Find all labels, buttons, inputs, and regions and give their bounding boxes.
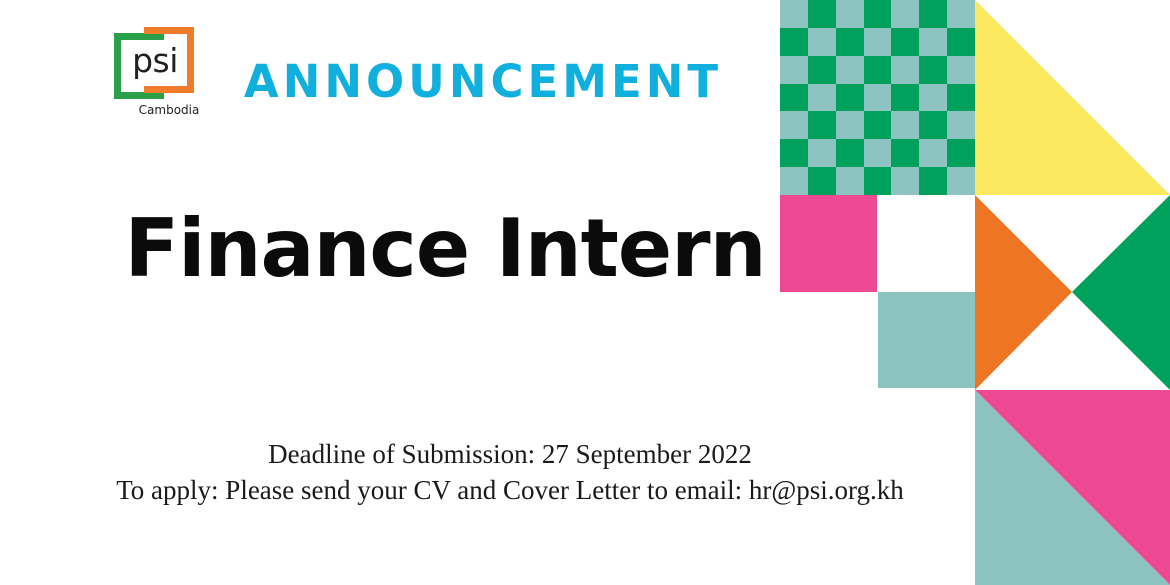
yellow-triangle-shape	[975, 0, 1170, 195]
apply-line: To apply: Please send your CV and Cover …	[0, 472, 1020, 508]
orange-triangle-shape	[975, 195, 1072, 390]
logo-wordmark: psi	[129, 43, 181, 79]
announcement-poster: psi Cambodia ANNOUNCEMENT Finance Intern…	[0, 0, 1170, 585]
teal-square	[878, 292, 975, 388]
deadline-line: Deadline of Submission: 27 September 202…	[0, 436, 1020, 472]
footer-details: Deadline of Submission: 27 September 202…	[0, 436, 1020, 508]
page-title: Finance Intern	[0, 201, 890, 297]
green-triangle-shape	[1072, 195, 1170, 390]
